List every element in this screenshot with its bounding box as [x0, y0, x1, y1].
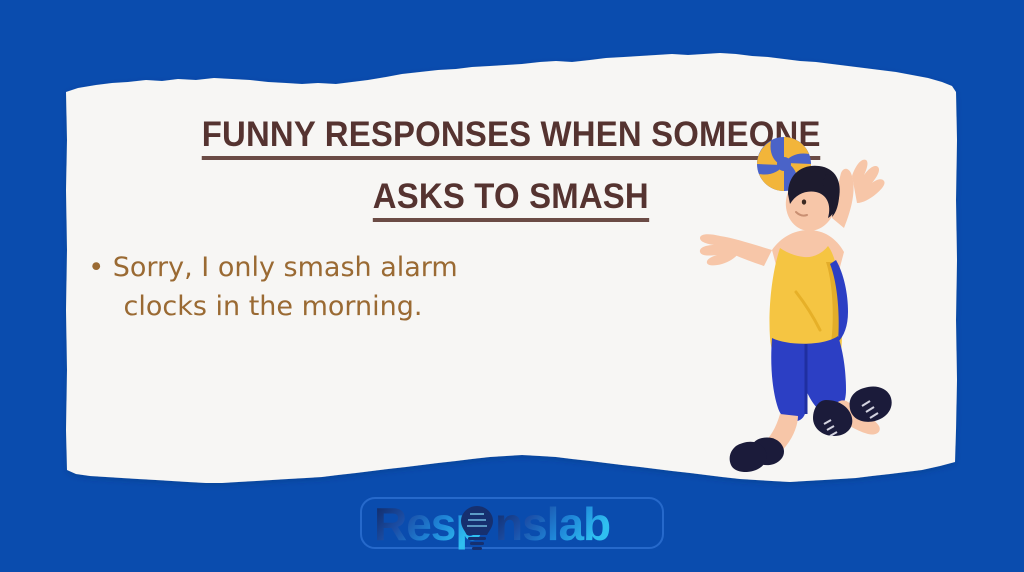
- title-line-2: ASKS TO SMASH: [373, 178, 649, 222]
- poster-canvas: FUNNY RESPONSES WHEN SOMEONE ASKS TO SMA…: [0, 0, 1024, 572]
- logo-text-after-bulb: nslab: [495, 498, 610, 550]
- volleyball-player-graphic: [676, 132, 936, 472]
- responslab-logo-graphic: Resp nslab: [358, 492, 666, 554]
- volleyball-player-illustration: [676, 132, 936, 472]
- responslab-logo[interactable]: Resp nslab: [358, 492, 666, 554]
- response-text: • Sorry, I only smash alarm clocks in th…: [78, 248, 468, 327]
